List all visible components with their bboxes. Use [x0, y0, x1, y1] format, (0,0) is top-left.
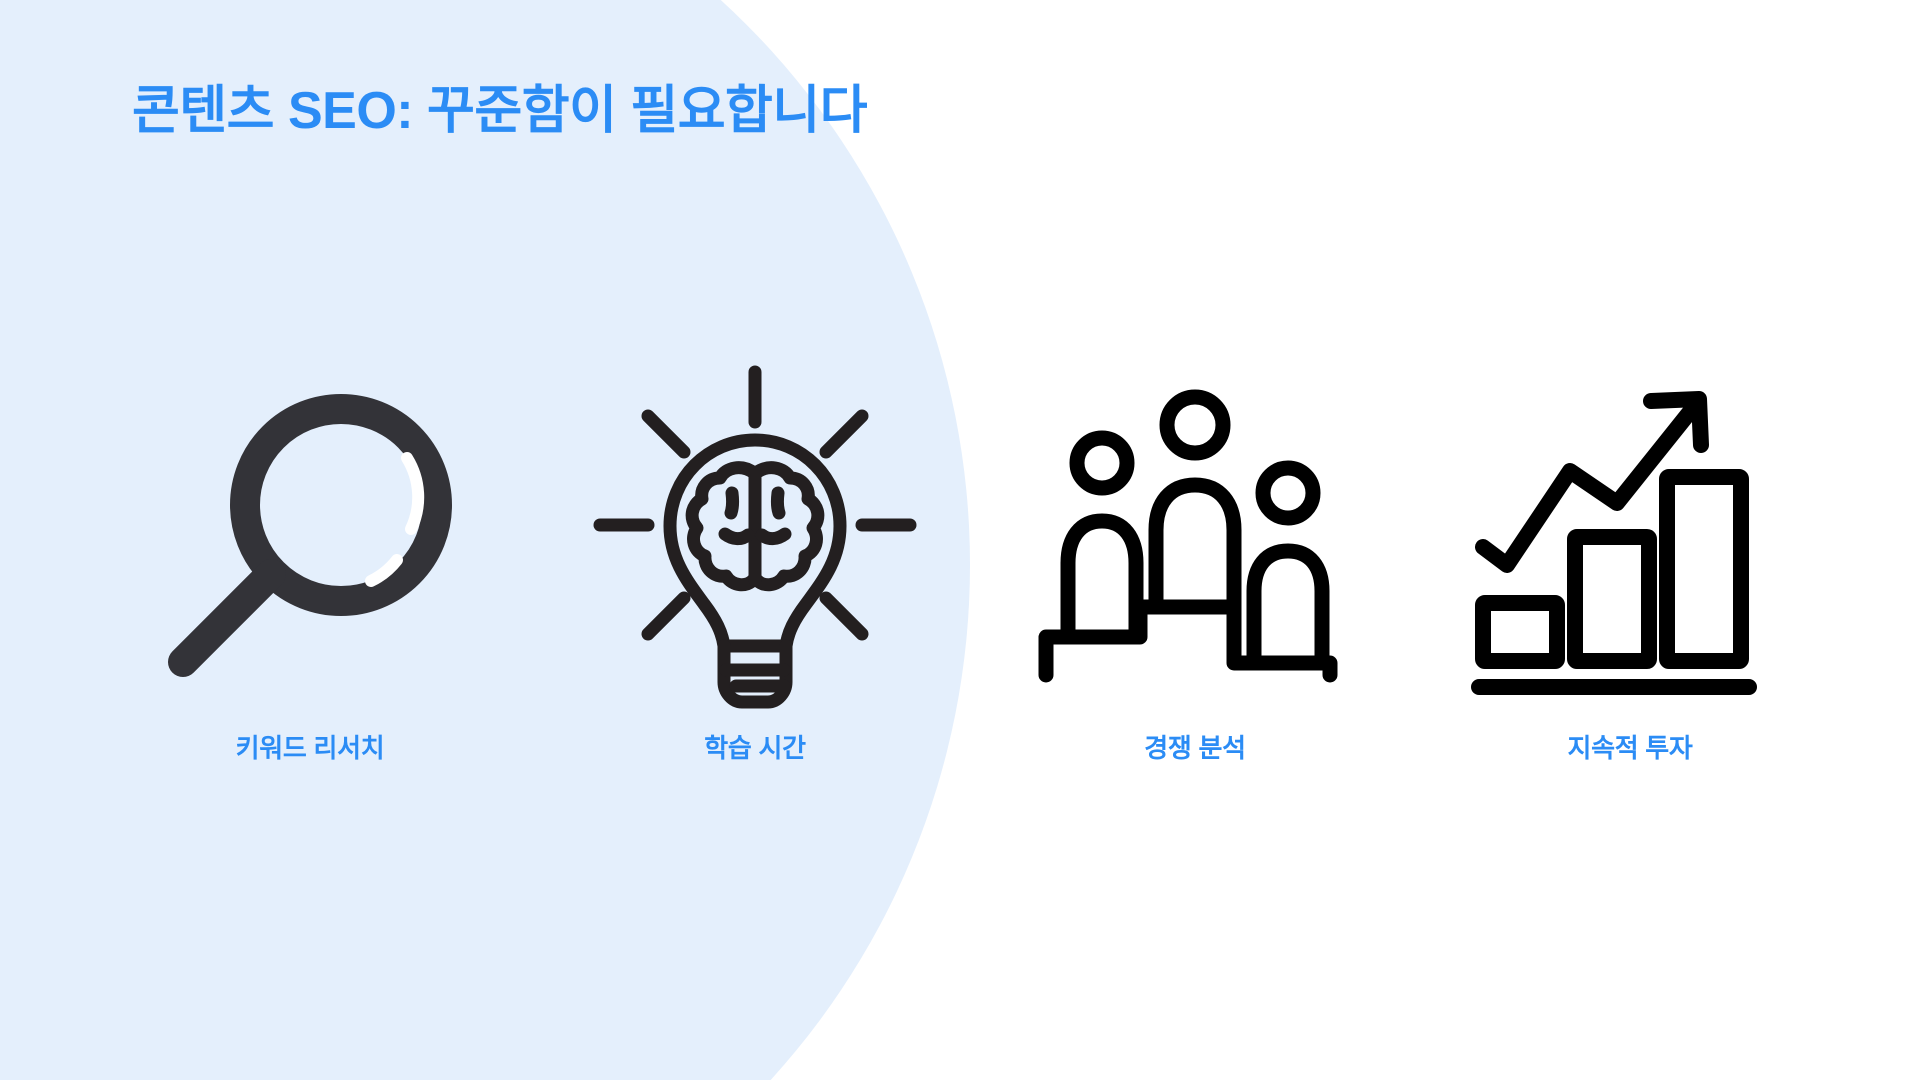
item-label: 키워드 리서치 [236, 728, 385, 765]
icon-item-row: 키워드 리서치 [0, 360, 1920, 880]
item-competitor-analysis[interactable]: 경쟁 분석 [1030, 360, 1360, 765]
item-learning-time[interactable]: 학습 시간 [590, 360, 920, 765]
item-continuous-investment[interactable]: 지속적 투자 [1465, 360, 1795, 765]
item-label: 학습 시간 [704, 728, 805, 765]
growth-bar-chart-icon [1465, 360, 1795, 720]
three-people-podium-icon [1030, 360, 1360, 720]
magnifier-icon [145, 360, 475, 720]
lightbulb-brain-icon [590, 360, 920, 720]
item-label: 지속적 투자 [1567, 728, 1692, 765]
slide-canvas: 콘텐츠 SEO: 꾸준함이 필요합니다 키워드 리서치 [0, 0, 1920, 1080]
page-title: 콘텐츠 SEO: 꾸준함이 필요합니다 [132, 82, 867, 142]
item-label: 경쟁 분석 [1144, 728, 1245, 765]
item-keyword-research[interactable]: 키워드 리서치 [145, 360, 475, 765]
